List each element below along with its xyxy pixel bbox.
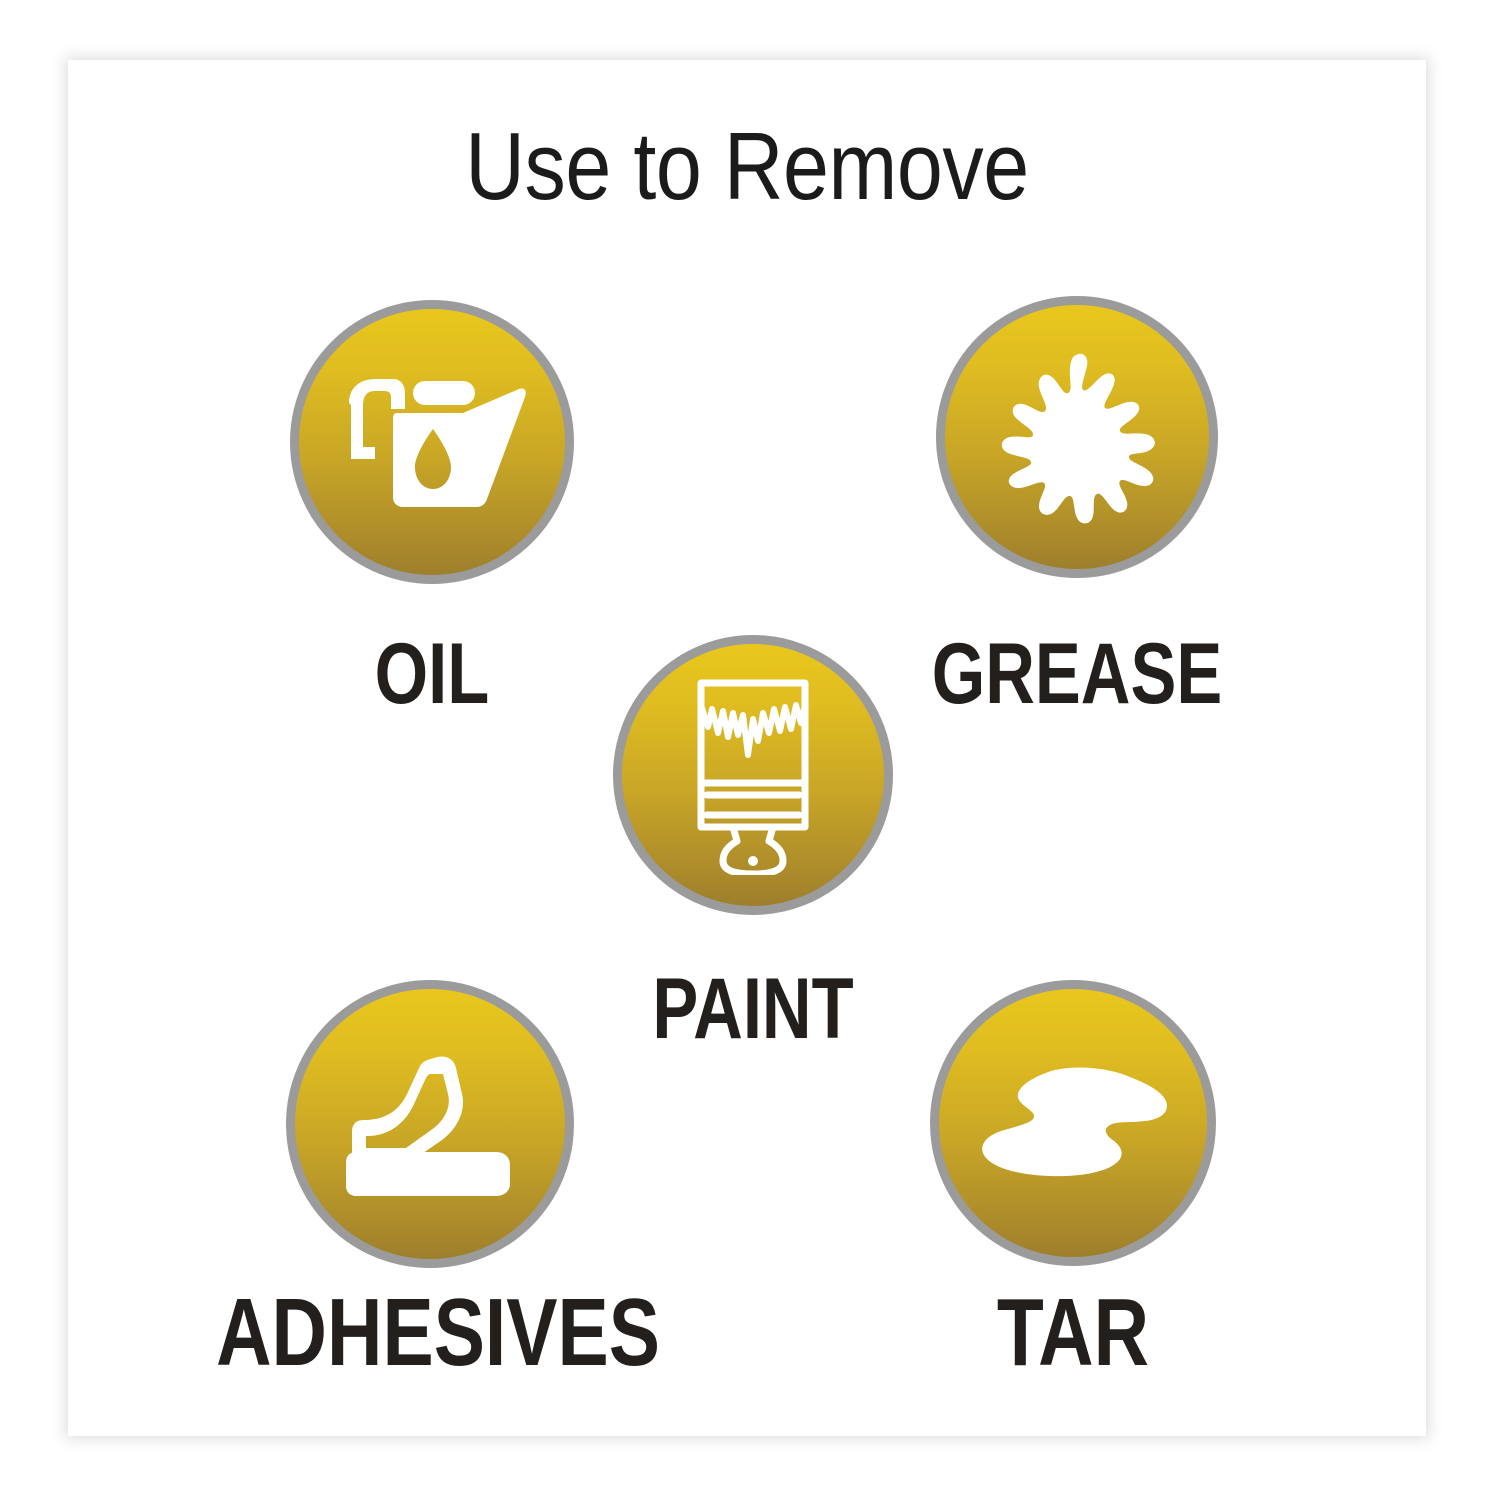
badge-paint bbox=[613, 635, 893, 915]
page-title: Use to Remove bbox=[163, 112, 1331, 222]
badge-tar bbox=[930, 980, 1216, 1266]
badge-adhesives bbox=[286, 980, 574, 1268]
info-card: Use to Remove OIL bbox=[68, 60, 1426, 1436]
infographic-root: Use to Remove OIL bbox=[0, 0, 1500, 1500]
paint-brush-icon bbox=[683, 675, 823, 875]
label-tar: TAR bbox=[935, 1278, 1212, 1388]
oil-can-icon bbox=[337, 367, 527, 517]
label-oil: OIL bbox=[318, 625, 545, 724]
tar-puddle-icon bbox=[973, 1063, 1173, 1183]
grease-splatter-icon bbox=[984, 349, 1170, 525]
sticky-shoe-icon bbox=[338, 1044, 523, 1204]
badge-oil bbox=[290, 300, 574, 584]
badge-grease bbox=[936, 296, 1218, 578]
label-paint: PAINT bbox=[609, 960, 897, 1059]
label-adhesives: ADHESIVES bbox=[174, 1278, 702, 1388]
label-grease: GREASE bbox=[884, 625, 1270, 724]
